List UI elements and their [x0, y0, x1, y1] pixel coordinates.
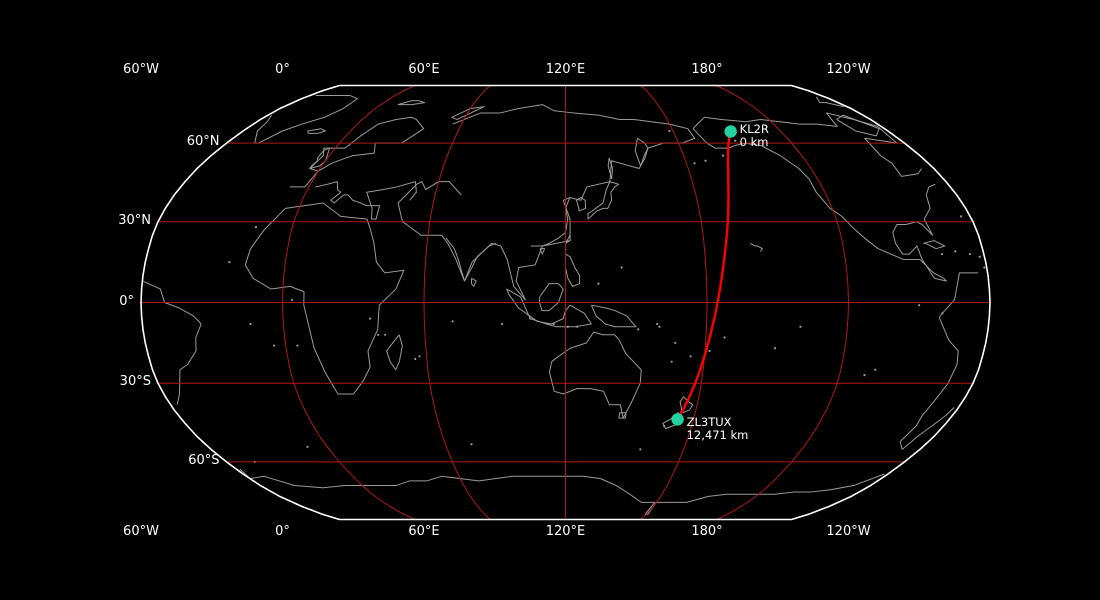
island-9 [704, 160, 706, 162]
island-29 [918, 304, 920, 306]
lon-tick-bottom-3: 120°W [809, 524, 889, 539]
island-34 [418, 355, 420, 357]
island-46 [291, 299, 293, 301]
island-30 [941, 312, 943, 314]
lat-tick-left-2: 0° [49, 294, 134, 309]
lon-tick-top-4: 60°W [101, 62, 181, 77]
lon-tick-bottom-0: 60°E [384, 524, 464, 539]
island-50 [384, 334, 386, 336]
map-canvas[interactable] [0, 0, 1100, 600]
island-25 [979, 256, 981, 258]
island-42 [255, 226, 257, 228]
island-4 [671, 361, 673, 363]
map-figure: Robinson Projection BP64 to RE66HO (211°… [0, 0, 1100, 600]
island-12 [470, 443, 472, 445]
island-49 [377, 334, 379, 336]
island-47 [273, 344, 275, 346]
island-40 [983, 266, 985, 268]
lon-tick-bottom-2: 180° [667, 524, 747, 539]
island-2 [724, 336, 726, 338]
marker-label-origin: KL2R 0 km [740, 123, 769, 149]
island-5 [658, 326, 660, 328]
island-33 [414, 358, 416, 360]
robinson-projection-svg[interactable] [0, 0, 1100, 600]
island-32 [874, 369, 876, 371]
island-23 [567, 326, 569, 328]
lon-tick-bottom-5: 0° [243, 524, 323, 539]
island-24 [553, 323, 555, 325]
island-7 [668, 130, 670, 132]
island-18 [734, 140, 736, 142]
lon-tick-bottom-4: 60°W [101, 524, 181, 539]
lon-tick-top-1: 120°E [526, 62, 606, 77]
island-35 [452, 320, 454, 322]
island-15 [722, 155, 724, 157]
island-17 [663, 425, 665, 427]
island-38 [674, 342, 676, 344]
island-21 [656, 323, 658, 325]
lon-tick-top-3: 120°W [809, 62, 889, 77]
island-1 [799, 326, 801, 328]
island-3 [708, 350, 710, 352]
island-37 [529, 318, 531, 320]
lat-tick-left-1: 30°N [66, 213, 151, 228]
island-39 [689, 355, 691, 357]
island-10 [639, 448, 641, 450]
island-28 [941, 253, 943, 255]
marker-origin[interactable] [724, 125, 736, 137]
island-26 [969, 253, 971, 255]
lon-tick-bottom-1: 120°E [526, 524, 606, 539]
island-22 [576, 326, 578, 328]
island-0 [774, 347, 776, 349]
lat-tick-left-3: 30°S [66, 374, 151, 389]
island-6 [637, 328, 639, 330]
marker-destination[interactable] [671, 413, 683, 425]
marker-label-destination: ZL3TUX 12,471 km [687, 416, 749, 442]
lon-tick-top-0: 60°E [384, 62, 464, 77]
island-27 [954, 250, 956, 252]
island-8 [693, 162, 695, 164]
island-20 [597, 283, 599, 285]
island-45 [296, 344, 298, 346]
island-41 [960, 215, 962, 217]
island-36 [501, 323, 503, 325]
island-43 [228, 261, 230, 263]
island-31 [863, 374, 865, 376]
lat-tick-left-0: 60°N [134, 134, 219, 149]
map-background [0, 0, 1100, 600]
marker-distance-origin: 0 km [740, 136, 769, 149]
lat-tick-left-4: 60°S [134, 453, 219, 468]
marker-distance-destination: 12,471 km [687, 429, 749, 442]
island-19 [621, 266, 623, 268]
lon-tick-top-5: 0° [243, 62, 323, 77]
island-48 [369, 318, 371, 320]
island-44 [249, 323, 251, 325]
island-13 [306, 446, 308, 448]
lon-tick-top-2: 180° [667, 62, 747, 77]
